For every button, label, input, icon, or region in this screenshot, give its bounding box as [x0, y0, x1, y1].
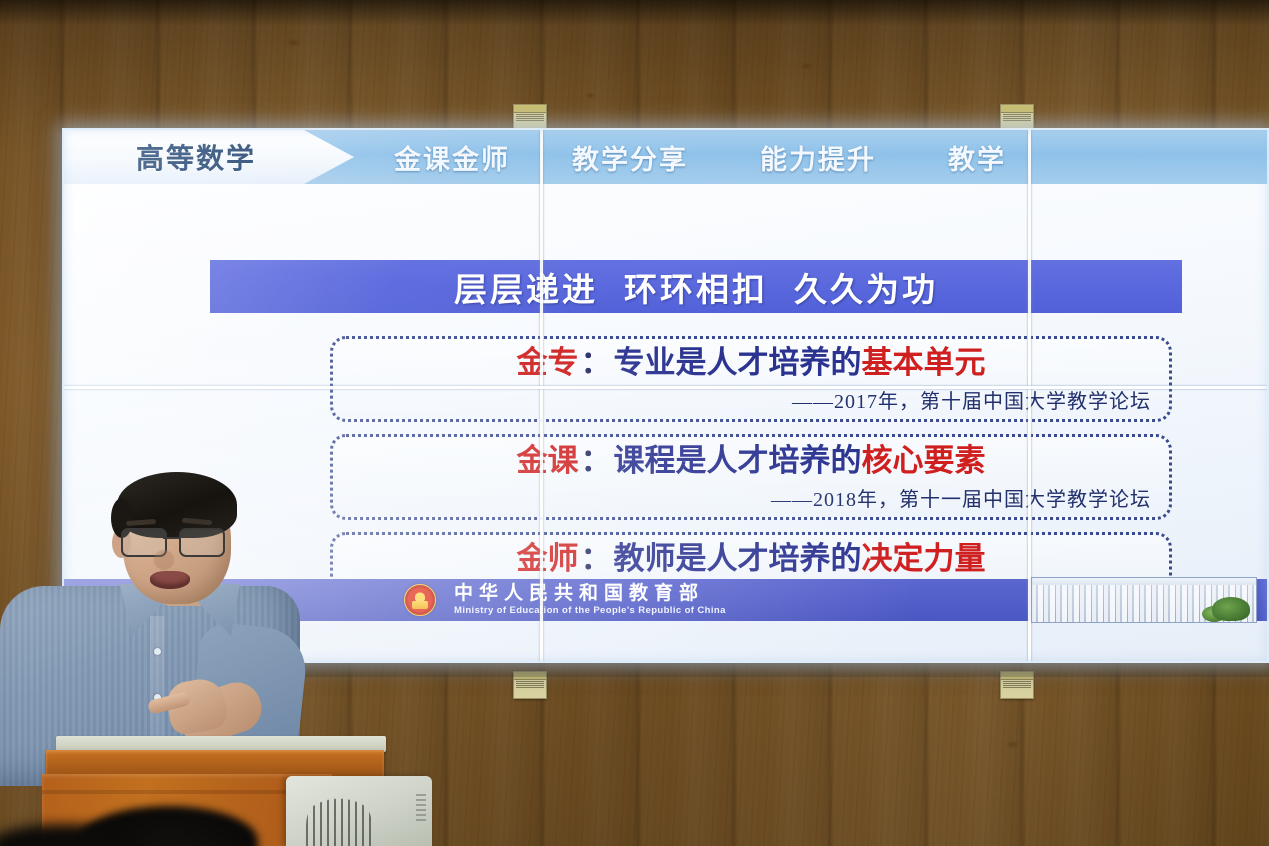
amplifier-speaker	[286, 776, 432, 846]
slide-body: 层层递进环环相扣久久为功 金专：专业是人才培养的基本单元 ——2017年，第十届…	[62, 184, 1269, 663]
footer-title-en: Ministry of Education of the People's Re…	[454, 606, 726, 616]
box-lead-label: 金课	[517, 443, 579, 478]
nav-tab-nenglitisheng[interactable]: 能力提升	[760, 138, 876, 177]
headline-part-1: 层层递进	[454, 271, 598, 308]
box-colon: ：	[579, 541, 614, 576]
box-citation: ——2017年，第十届中国大学教学论坛	[351, 385, 1151, 414]
content-box-jinke: 金课：课程是人才培养的核心要素 ——2018年，第十一届中国大学教学论坛	[330, 434, 1172, 520]
nav-tab-jiaoxuefenxiang[interactable]: 教学分享	[572, 138, 688, 177]
wall-base-shadow	[0, 663, 1269, 677]
content-box-heading: 金专：专业是人才培养的基本单元	[351, 345, 1151, 381]
photo-sky	[1032, 578, 1256, 585]
box-colon: ：	[579, 345, 614, 380]
lecture-hall-scene: 高等数学 金课金师 教学分享 能力提升 教学 层层递进环环相扣久久为功 金	[0, 0, 1269, 846]
video-wall-display[interactable]: 高等数学 金课金师 教学分享 能力提升 教学 层层递进环环相扣久久为功 金	[62, 128, 1269, 663]
box-main-text: 专业是人才培养的	[614, 345, 862, 380]
box-main-text: 课程是人才培养的	[614, 443, 862, 478]
nav-tab-jinkejinshi[interactable]: 金课金师	[394, 138, 510, 177]
content-box-heading: 金课：课程是人才培养的核心要素	[351, 443, 1151, 479]
box-lead-label: 金专	[517, 345, 579, 380]
slide-headline: 层层递进环环相扣久久为功	[454, 263, 938, 311]
box-colon: ：	[579, 443, 614, 478]
nav-tab-active[interactable]: 高等数学	[62, 130, 354, 184]
nav-tab-jiaoxue[interactable]: 教学	[948, 138, 1006, 177]
podium-front-rail	[46, 750, 384, 776]
campus-building-photo	[1031, 577, 1257, 623]
national-emblem-icon	[404, 584, 436, 616]
presentation-slide: 高等数学 金课金师 教学分享 能力提升 教学 层层递进环环相扣久久为功 金	[62, 128, 1269, 663]
nav-tab-list: 金课金师 教学分享 能力提升 教学	[354, 130, 1269, 184]
slide-headline-band: 层层递进环环相扣久久为功	[210, 260, 1182, 313]
box-main-text: 教师是人才培养的	[614, 541, 862, 576]
box-lead-label: 金师	[517, 541, 579, 576]
headline-part-3: 久久为功	[794, 271, 938, 308]
content-box-heading: 金师：教师是人才培养的决定力量	[351, 541, 1151, 577]
speaker-grille	[306, 792, 372, 846]
content-box-jinzhuan: 金专：专业是人才培养的基本单元 ——2017年，第十届中国大学教学论坛	[330, 336, 1172, 422]
box-highlight-text: 核心要素	[862, 443, 986, 478]
box-highlight-text: 决定力量	[862, 541, 986, 576]
headline-part-2: 环环相扣	[624, 271, 768, 308]
amplifier-vent	[416, 794, 426, 824]
slide-nav-bar: 高等数学 金课金师 教学分享 能力提升 教学	[62, 128, 1269, 184]
box-highlight-text: 基本单元	[862, 345, 986, 380]
footer-title-cn: 中华人民共和国教育部	[454, 584, 726, 604]
footer-text-group: 中华人民共和国教育部 Ministry of Education of the …	[454, 584, 726, 616]
wall-top-shadow	[0, 0, 1269, 26]
photo-tree	[1212, 597, 1250, 621]
box-citation: ——2018年，第十一届中国大学教学论坛	[351, 483, 1151, 512]
nav-active-label: 高等数学	[136, 137, 256, 177]
